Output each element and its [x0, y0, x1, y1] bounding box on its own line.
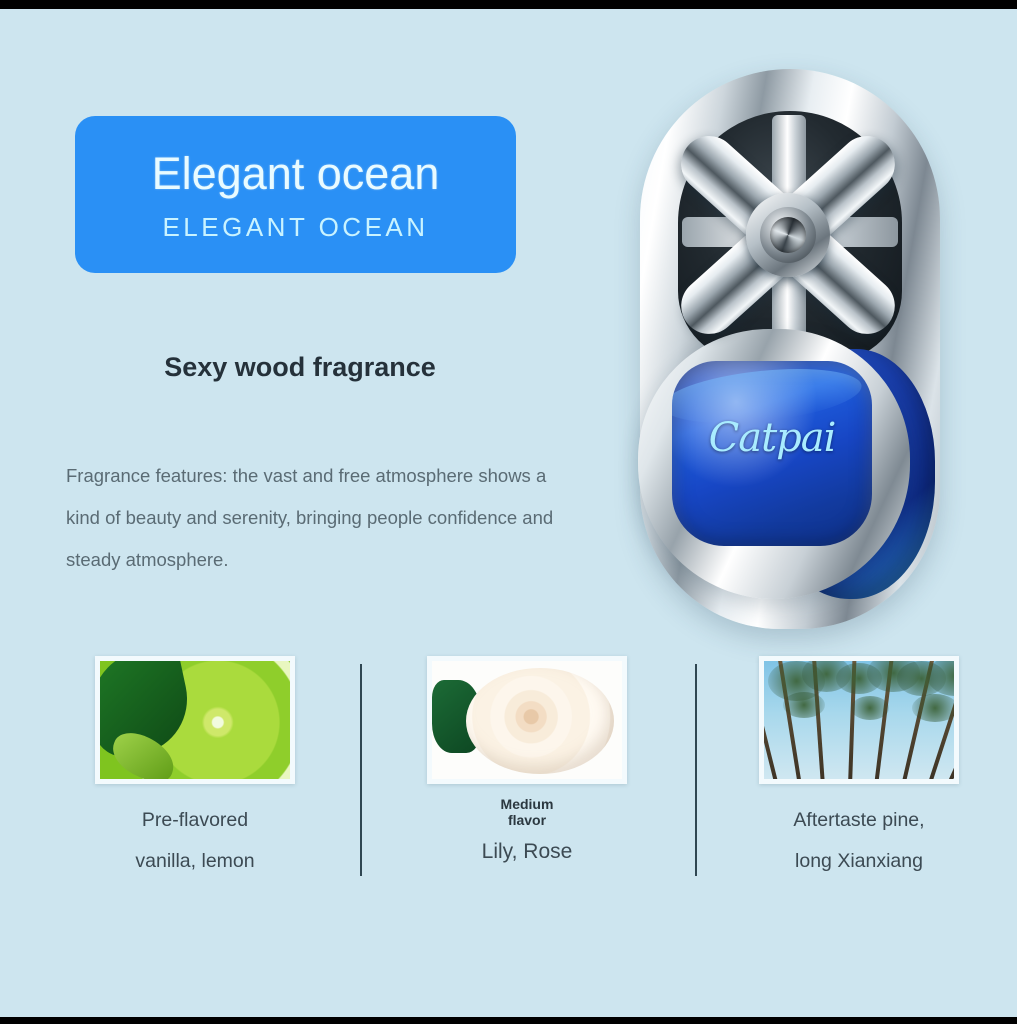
bottle-glass-window: Catpai [672, 361, 872, 546]
product-illustration: Catpai [560, 19, 1010, 659]
feature-label-small-line2: flavor [362, 812, 692, 828]
feature-caption-line1: Pre-flavored [30, 800, 360, 841]
letterbox-bar-top [0, 0, 1017, 9]
column-divider [360, 664, 362, 876]
banner-subtitle: ELEGANT OCEAN [162, 212, 428, 243]
brand-logo: Catpai [672, 415, 872, 461]
hub-swirl [770, 217, 806, 253]
banner-title: Elegant ocean [152, 150, 440, 197]
body-copy: Fragrance features: the vast and free at… [66, 455, 562, 581]
feature-column-medium-flavor: Medium flavor Lily, Rose [362, 649, 692, 864]
pine-foliage [912, 694, 958, 722]
feature-caption-line2: vanilla, lemon [30, 841, 360, 882]
pine-foliage [783, 692, 825, 718]
spiral-hub-icon [746, 193, 830, 277]
headline-banner: Elegant ocean ELEGANT OCEAN [75, 116, 516, 273]
white-rose-photo [427, 656, 627, 784]
product-marketing-image: Elegant ocean ELEGANT OCEAN Sexy wood fr… [0, 0, 1017, 1024]
column-divider [695, 664, 697, 876]
hub-inner-ring [760, 207, 816, 263]
feature-column-aftertaste-pine: Aftertaste pine, long Xianxiang [694, 649, 1017, 882]
feature-label-small-line1: Medium [362, 796, 692, 812]
feature-column-pre-flavored: Pre-flavored vanilla, lemon [30, 649, 360, 882]
section-heading: Sexy wood fragrance [60, 352, 540, 383]
feature-caption-line1: Aftertaste pine, [694, 800, 1017, 841]
feature-row: Pre-flavored vanilla, lemon Medium flavo… [0, 649, 1017, 909]
image-canvas: Elegant ocean ELEGANT OCEAN Sexy wood fr… [0, 9, 1017, 1017]
feature-caption-line1: Lily, Rose [362, 840, 692, 864]
lime-slice-photo [95, 656, 295, 784]
pine-forest-photo [759, 656, 959, 784]
letterbox-bar-bottom [0, 1017, 1017, 1024]
feature-caption-line2: long Xianxiang [694, 841, 1017, 882]
